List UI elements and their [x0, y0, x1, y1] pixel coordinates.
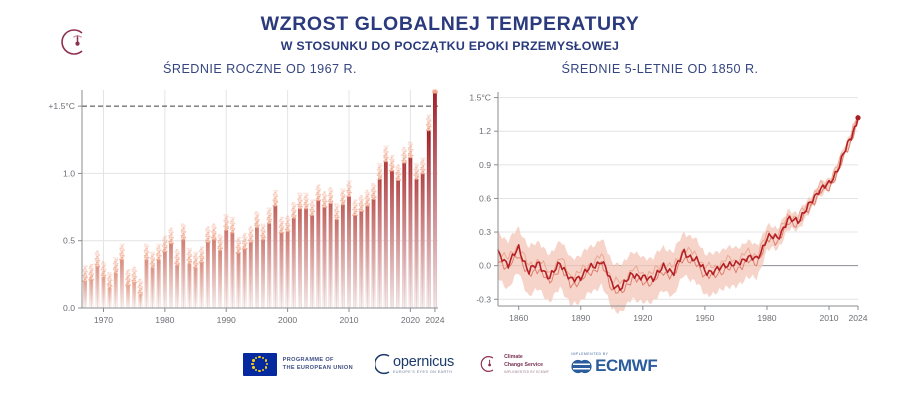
eu-flag-icon	[243, 353, 277, 376]
svg-text:1890: 1890	[571, 313, 590, 323]
copernicus-name: opernicus	[393, 354, 454, 370]
c3s-logo: Climate Change Service IMPLEMENTED BY EC…	[476, 353, 549, 375]
uncertainty-dots	[383, 145, 389, 162]
uncertainty-dots	[279, 217, 285, 234]
svg-text:0.0: 0.0	[479, 261, 491, 271]
svg-text:2024: 2024	[848, 313, 867, 323]
svg-text:2020: 2020	[401, 315, 420, 325]
uncertainty-dots	[144, 244, 150, 261]
uncertainty-dots	[309, 199, 315, 216]
svg-text:0.9: 0.9	[479, 160, 491, 170]
panel-title-right: ŚREDNIE 5-LETNIE OD 1850 R.	[460, 62, 860, 76]
uncertainty-dots	[322, 191, 328, 208]
title-block: WZROST GLOBALNEJ TEMPERATURY W STOSUNKU …	[0, 14, 900, 53]
uncertainty-dots	[426, 114, 432, 131]
uncertainty-dots	[291, 202, 297, 219]
uncertainty-dots	[181, 223, 187, 240]
uncertainty-dots	[420, 157, 426, 174]
eu-logo-line1: PROGRAMME OF	[283, 356, 353, 364]
c3s-line1: Climate	[504, 354, 549, 362]
annual-means-bar-chart: 0.00.51.0+1.5°C1970198019902000201020202…	[0, 80, 450, 330]
uncertainty-dots	[352, 199, 358, 216]
svg-text:1860: 1860	[509, 313, 528, 323]
c3s-mark-small-icon	[476, 353, 498, 375]
uncertainty-dots	[236, 237, 242, 254]
copernicus-wordmark: opernicus EUROPE'S EYES ON EARTH	[393, 354, 454, 374]
uncertainty-dots	[401, 147, 407, 164]
svg-text:+1.5°C: +1.5°C	[48, 101, 75, 111]
end-point-marker	[855, 115, 860, 120]
uncertainty-dots	[408, 141, 414, 158]
svg-text:2010: 2010	[339, 315, 358, 325]
uncertainty-dots	[389, 155, 395, 172]
svg-text:1970: 1970	[94, 315, 113, 325]
svg-text:1920: 1920	[633, 313, 652, 323]
uncertainty-dots	[230, 217, 236, 234]
eu-logo-text: PROGRAMME OF THE EUROPEAN UNION	[283, 356, 353, 372]
uncertainty-dots	[168, 227, 174, 244]
uncertainty-dots	[346, 180, 352, 197]
uncertainty-dots	[266, 207, 272, 224]
svg-text:1980: 1980	[757, 313, 776, 323]
uncertainty-dots	[174, 249, 180, 266]
c3s-line2: Change Service	[504, 362, 549, 370]
uncertainty-dots	[395, 164, 401, 181]
uncertainty-dots	[272, 190, 278, 207]
svg-text:0.6: 0.6	[479, 193, 491, 203]
svg-text:1.5°C: 1.5°C	[469, 93, 491, 103]
uncertainty-dots	[340, 188, 346, 205]
uncertainty-dots	[364, 190, 370, 207]
footer: PROGRAMME OF THE EUROPEAN UNION opernicu…	[0, 346, 900, 403]
svg-text:1.0: 1.0	[63, 168, 75, 178]
svg-text:1990: 1990	[217, 315, 236, 325]
svg-text:0.3: 0.3	[479, 227, 491, 237]
uncertainty-dots	[242, 233, 248, 250]
uncertainty-dots	[137, 279, 143, 296]
eu-logo: PROGRAMME OF THE EUROPEAN UNION	[243, 353, 353, 376]
uncertainty-dots	[248, 226, 254, 243]
svg-text:2024: 2024	[425, 315, 444, 325]
uncertainty-dots	[432, 89, 438, 94]
copernicus-c-icon	[375, 352, 391, 376]
header: WZROST GLOBALNEJ TEMPERATURY W STOSUNKU …	[0, 0, 900, 70]
svg-text:2000: 2000	[278, 315, 297, 325]
uncertainty-dots	[119, 244, 125, 261]
uncertainty-dots	[88, 264, 94, 281]
uncertainty-dots	[217, 234, 223, 251]
uncertainty-dots	[125, 269, 131, 286]
annual-means-plot: 0.00.51.0+1.5°C1970198019902000201020202…	[0, 80, 450, 330]
svg-text:1.2: 1.2	[479, 126, 491, 136]
uncertainty-dots	[303, 192, 309, 209]
copernicus-logo: opernicus EUROPE'S EYES ON EARTH	[375, 352, 454, 376]
page-title: WZROST GLOBALNEJ TEMPERATURY	[0, 14, 900, 36]
uncertainty-dots	[162, 236, 168, 253]
uncertainty-dots	[371, 183, 377, 200]
uncertainty-dots	[82, 265, 88, 282]
uncertainty-dots	[199, 246, 205, 263]
panel-title-left: ŚREDNIE ROCZNE OD 1967 R.	[75, 62, 445, 76]
uncertainty-dots	[101, 261, 107, 278]
uncertainty-dots	[150, 252, 156, 269]
uncertainty-dots	[156, 244, 162, 261]
svg-text:0.5: 0.5	[63, 236, 75, 246]
ecmwf-name: ECMWF	[595, 356, 657, 376]
page-subtitle: W STOSUNKU DO POCZĄTKU EPOKI PRZEMYSŁOWE…	[0, 39, 900, 53]
uncertainty-dots	[334, 203, 340, 220]
bar-series	[82, 89, 438, 308]
copernicus-tagline: EUROPE'S EYES ON EARTH	[393, 370, 454, 374]
uncertainty-dots	[359, 195, 365, 212]
svg-text:2010: 2010	[819, 313, 838, 323]
uncertainty-dots	[315, 184, 321, 201]
eu-logo-line2: THE EUROPEAN UNION	[283, 364, 353, 372]
five-year-means-plot: -0.30.00.30.60.91.21.5°C1860189019201950…	[450, 80, 900, 330]
svg-text:1980: 1980	[155, 315, 174, 325]
uncertainty-dots	[260, 223, 266, 240]
c3s-wordmark: Climate Change Service IMPLEMENTED BY EC…	[504, 354, 549, 374]
five-year-means-line-chart: -0.30.00.30.60.91.21.5°C1860189019201950…	[450, 80, 900, 330]
uncertainty-dots	[211, 223, 217, 240]
uncertainty-dots	[285, 215, 291, 232]
uncertainty-dots	[193, 252, 199, 269]
c3s-tagline: IMPLEMENTED BY ECMWF	[504, 370, 549, 374]
uncertainty-dots	[107, 272, 113, 289]
svg-text:-0.3: -0.3	[476, 294, 491, 304]
uncertainty-dots	[377, 163, 383, 180]
uncertainty-dots	[254, 211, 260, 228]
ecmwf-logo: IMPLEMENTED BY ECMWF	[571, 352, 657, 376]
uncertainty-dots	[186, 248, 192, 265]
uncertainty-dots	[414, 163, 420, 180]
uncertainty-dots	[297, 192, 303, 209]
svg-text:0.0: 0.0	[63, 303, 75, 313]
uncertainty-dots	[131, 266, 137, 283]
svg-text:1950: 1950	[695, 313, 714, 323]
ecmwf-globe-icon	[571, 358, 593, 375]
uncertainty-dots	[113, 257, 119, 274]
logo-row: PROGRAMME OF THE EUROPEAN UNION opernicu…	[0, 352, 900, 376]
uncertainty-dots	[328, 187, 334, 204]
uncertainty-dots	[223, 214, 229, 231]
uncertainty-dots	[94, 250, 100, 267]
